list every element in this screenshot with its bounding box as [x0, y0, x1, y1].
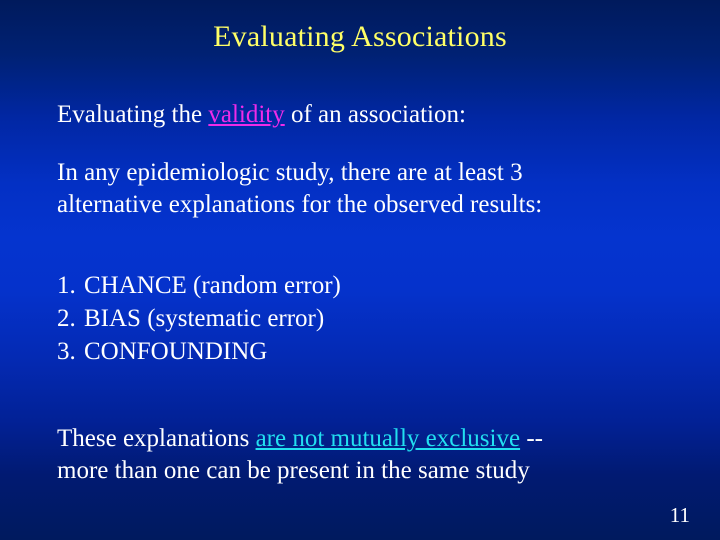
- emphasis-validity: validity: [208, 101, 284, 128]
- list-item-number: 3.: [57, 337, 84, 367]
- list-item-label: CONFOUNDING: [84, 338, 267, 365]
- list-item: 1.CHANCE (random error): [57, 271, 341, 301]
- paragraph-validity: Evaluating the validity of an associatio…: [57, 100, 466, 130]
- list-item-number: 1.: [57, 271, 84, 301]
- list-item-label: CHANCE (random error): [84, 272, 341, 299]
- list-item: 2.BIAS (systematic error): [57, 304, 324, 334]
- presentation-slide: Evaluating Associations Evaluating the v…: [0, 0, 720, 540]
- paragraph-conclusion-suffix: --: [520, 425, 543, 452]
- slide-page-number: 11: [670, 503, 690, 527]
- list-item-label: BIAS (systematic error): [84, 305, 324, 332]
- paragraph-validity-prefix: Evaluating the: [57, 101, 208, 128]
- emphasis-mutually-exclusive: are not mutually exclusive: [256, 425, 521, 452]
- paragraph-conclusion-line2: more than one can be present in the same…: [57, 456, 530, 486]
- paragraph-premise-line2: alternative explanations for the observe…: [57, 190, 542, 220]
- list-item: 3.CONFOUNDING: [57, 337, 267, 367]
- slide-title: Evaluating Associations: [0, 19, 720, 55]
- paragraph-validity-suffix: of an association:: [285, 101, 466, 128]
- paragraph-conclusion-line1: These explanations are not mutually excl…: [57, 424, 543, 454]
- list-item-number: 2.: [57, 304, 84, 334]
- paragraph-conclusion-prefix: These explanations: [57, 425, 256, 452]
- paragraph-premise-line1: In any epidemiologic study, there are at…: [57, 158, 523, 188]
